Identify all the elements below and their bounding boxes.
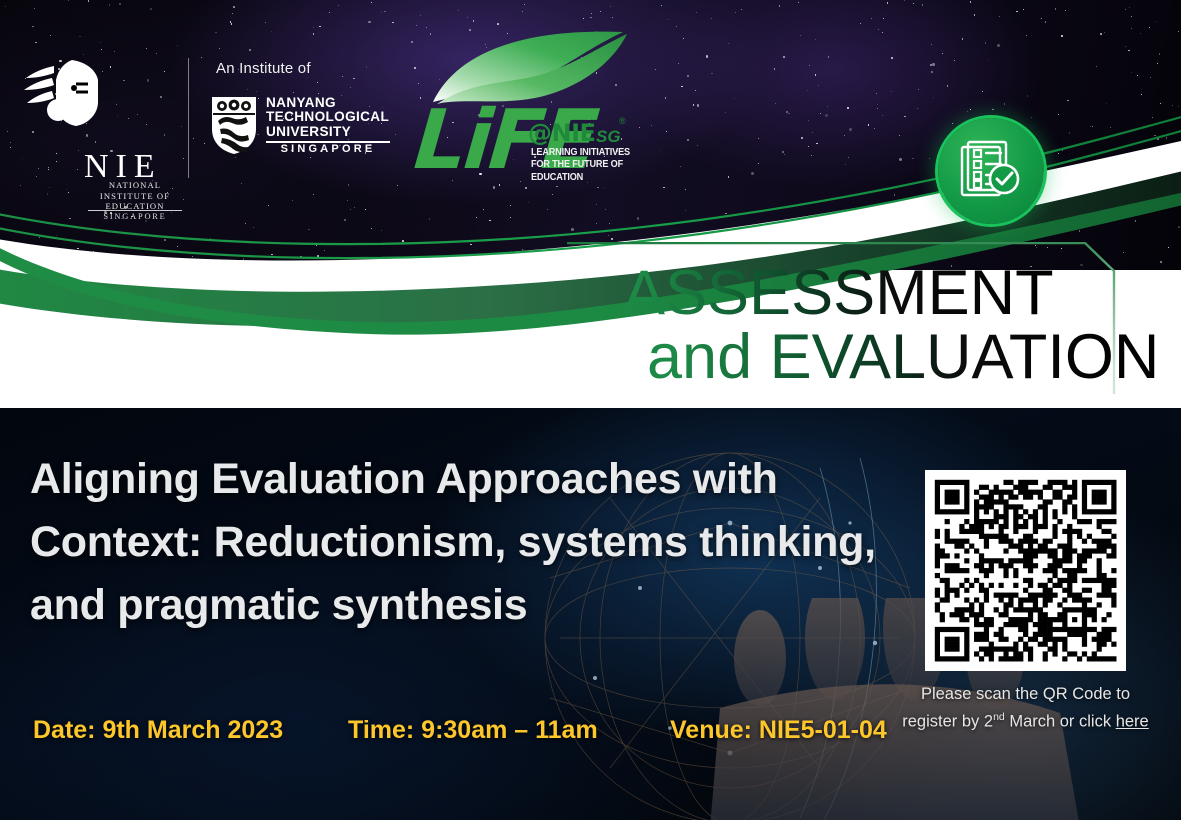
nie-subtitle: NATIONAL INSTITUTE OF EDUCATION — [86, 180, 184, 212]
session-date: Date: 9th March 2023 — [33, 716, 283, 745]
session-meta-row: Date: 9th March 2023 Time: 9:30am – 11am… — [0, 716, 920, 748]
life-tagline: LEARNING INITIATIVES FOR THE FUTURE OF E… — [531, 147, 645, 184]
ntu-name: NANYANG TECHNOLOGICAL UNIVERSITY — [266, 96, 390, 139]
life-sg: SG — [596, 127, 621, 147]
nie-country: SINGAPORE — [86, 212, 184, 221]
registered-mark: ® — [619, 116, 626, 126]
ntu-shield-icon — [210, 95, 258, 155]
event-poster: NIE NATIONAL INSTITUTE OF EDUCATION SING… — [0, 0, 1181, 820]
nie-logo: NIE NATIONAL INSTITUTE OF EDUCATION SING… — [24, 58, 179, 178]
nie-acronym: NIE — [84, 150, 162, 184]
ntu-logo: NANYANG TECHNOLOGICAL UNIVERSITY SINGAPO… — [210, 95, 390, 157]
session-time: Time: 9:30am – 11am — [348, 716, 598, 745]
checklist-check-icon — [958, 138, 1024, 204]
poster-header: NIE NATIONAL INSTITUTE OF EDUCATION SING… — [0, 0, 1181, 410]
qr-code[interactable] — [925, 470, 1126, 671]
ntu-country: SINGAPORE — [266, 143, 390, 155]
logo-divider — [188, 58, 189, 178]
nie-lion-icon — [24, 58, 104, 130]
qr-code-image — [925, 470, 1126, 671]
register-here-link[interactable]: here — [1116, 713, 1149, 731]
life-at-nie: @NIE — [528, 119, 595, 147]
series-title-frame: ASSESSMENT and EVALUATION — [566, 242, 1123, 394]
institute-of-label: An Institute of — [216, 60, 311, 77]
series-title-line1: ASSESSMENT — [623, 262, 1054, 325]
life-logo: LiFE @NIE SG ® LEARNING INITIATIVES FOR … — [415, 28, 660, 163]
series-title-line2: and EVALUATION — [647, 326, 1159, 389]
nie-divider — [88, 210, 182, 211]
assessment-badge — [938, 118, 1044, 224]
qr-caption-part2: March or click — [1005, 713, 1116, 731]
qr-caption-ordinal: nd — [993, 711, 1005, 723]
session-headline: Aligning Evaluation Approaches with Cont… — [30, 448, 900, 637]
session-venue: Venue: NIE5-01-04 — [670, 716, 887, 745]
qr-caption: Please scan the QR Code to register by 2… — [898, 683, 1153, 734]
